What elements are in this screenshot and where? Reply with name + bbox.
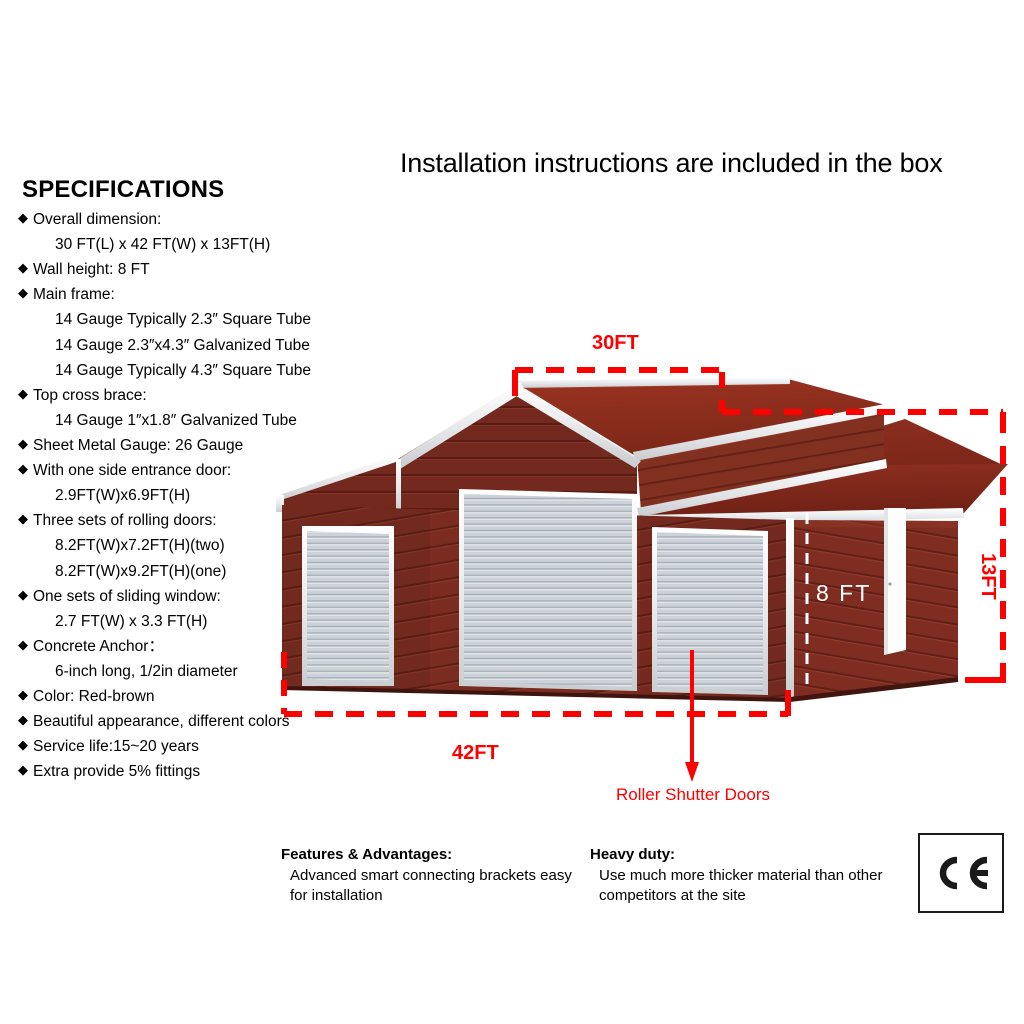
roller-door-callout-arrow <box>685 650 699 782</box>
spec-item-label: Extra provide 5% fittings <box>33 759 348 784</box>
spec-item-label: 14 Gauge 1″x1.8″ Galvanized Tube <box>55 408 348 433</box>
clerestory-wall <box>637 408 884 512</box>
spec-item: ◆Extra provide 5% fittings <box>18 759 348 784</box>
spec-item: ◆One sets of sliding window: <box>18 584 348 609</box>
spec-item-label: Main frame: <box>33 282 348 307</box>
heavy-duty-heading: Heavy duty: <box>590 845 900 866</box>
spec-item: 2.7 FT(W) x 3.3 FT(H) <box>18 609 348 634</box>
diamond-bullet-icon: ◆ <box>18 734 33 755</box>
spec-item: ◆ With one side entrance door: <box>18 458 348 483</box>
spec-item: ◆Service life:15~20 years <box>18 734 348 759</box>
spec-item-label: Wall height: 8 FT <box>33 257 348 282</box>
spec-item-label: 6-inch long, 1/2in diameter <box>55 659 348 684</box>
specifications-heading: SPECIFICATIONS <box>22 176 348 204</box>
spec-item: 8.2FT(W)x9.2FT(H)(one) <box>18 559 348 584</box>
spec-item: ◆Overall dimension: <box>18 207 348 232</box>
spec-item: 14 Gauge Typically 2.3″ Square Tube <box>18 307 348 332</box>
spec-item: 6-inch long, 1/2in diameter <box>18 659 348 684</box>
gable-wall <box>394 382 641 513</box>
spec-item-label: 14 Gauge 2.3″x4.3″ Galvanized Tube <box>55 333 348 358</box>
specifications-list: ◆Overall dimension:30 FT(L) x 42 FT(W) x… <box>18 207 348 785</box>
spec-item: 14 Gauge Typically 4.3″ Square Tube <box>18 358 348 383</box>
spec-item-label: Overall dimension: <box>33 207 348 232</box>
spec-item: ◆Concrete Anchor： <box>18 634 348 659</box>
spec-item: ◆Main frame: <box>18 282 348 307</box>
spec-item-label: Sheet Metal Gauge: 26 Gauge <box>33 433 348 458</box>
spec-item-label: Three sets of rolling doors: <box>33 508 348 533</box>
dimension-label-wall-height: 8 FT <box>816 580 871 607</box>
roof-upper <box>516 379 889 457</box>
spec-item-label: 8.2FT(W)x7.2FT(H)(two) <box>55 533 348 558</box>
front-wall <box>282 505 1024 702</box>
spec-item: ◆Sheet Metal Gauge: 26 Gauge <box>18 433 348 458</box>
spec-item: ◆Top cross brace: <box>18 383 348 408</box>
spec-item-label: Color: Red-brown <box>33 684 348 709</box>
dimension-lines <box>284 370 1006 716</box>
clerestory-eave-trim <box>633 403 891 461</box>
features-advantages-block: Features & Advantages: Advanced smart co… <box>281 845 581 907</box>
diamond-bullet-icon: ◆ <box>18 684 33 705</box>
spec-item: 14 Gauge 1″x1.8″ Galvanized Tube <box>18 408 348 433</box>
diamond-bullet-icon: ◆ <box>18 508 33 529</box>
features-heading: Features & Advantages: <box>281 845 581 866</box>
dimension-label-depth: 30FT <box>592 332 639 355</box>
diamond-bullet-icon: ◆ <box>18 383 33 404</box>
spec-item: 30 FT(L) x 42 FT(W) x 13FT(H) <box>18 232 348 257</box>
page-title: Installation instructions are included i… <box>400 148 1010 179</box>
roller-door-center[interactable] <box>459 489 637 691</box>
diamond-bullet-icon: ◆ <box>18 433 33 454</box>
spec-item-label: One sets of sliding window: <box>33 584 348 609</box>
spec-item: 2.9FT(W)x6.9FT(H) <box>18 483 348 508</box>
roller-door-callout-label: Roller Shutter Doors <box>616 785 770 805</box>
ce-mark <box>918 833 1004 913</box>
spec-item: ◆Three sets of rolling doors: <box>18 508 348 533</box>
spec-item: ◆Wall height: 8 FT <box>18 257 348 282</box>
side-wall-right <box>786 508 958 702</box>
roller-door-right[interactable] <box>652 527 768 695</box>
heavy-duty-line-2: competitors at the site <box>590 886 900 907</box>
product-spec-sheet: Installation instructions are included i… <box>0 0 1024 1024</box>
ce-logo-icon <box>931 853 991 893</box>
spec-item-label: With one side entrance door: <box>33 458 348 483</box>
features-line-2: for installation <box>281 886 581 907</box>
spec-item: ◆Color: Red-brown <box>18 684 348 709</box>
spec-item-label: Top cross brace: <box>33 383 348 408</box>
right-eave-trim <box>643 508 964 525</box>
spec-item-label: 2.7 FT(W) x 3.3 FT(H) <box>55 609 348 634</box>
spec-item-label: 2.9FT(W)x6.9FT(H) <box>55 483 348 508</box>
diamond-bullet-icon: ◆ <box>18 282 33 303</box>
heavy-duty-line-1: Use much more thicker material than othe… <box>590 866 900 887</box>
features-line-1: Advanced smart connecting brackets easy <box>281 866 581 887</box>
spec-item: ◆Beautiful appearance, different colors <box>18 709 348 734</box>
spec-item-label: Service life:15~20 years <box>33 734 348 759</box>
side-entrance-door[interactable] <box>884 508 906 655</box>
specifications-panel: SPECIFICATIONS ◆Overall dimension:30 FT(… <box>18 176 348 785</box>
spec-item: 14 Gauge 2.3″x4.3″ Galvanized Tube <box>18 333 348 358</box>
roof-lower-right <box>645 419 1008 524</box>
spec-item-label: Concrete Anchor： <box>33 634 348 659</box>
diamond-bullet-icon: ◆ <box>18 458 33 479</box>
diamond-bullet-icon: ◆ <box>18 709 33 730</box>
diamond-bullet-icon: ◆ <box>18 759 33 780</box>
spec-item-label: 14 Gauge Typically 2.3″ Square Tube <box>55 307 348 332</box>
spec-item-label: 8.2FT(W)x9.2FT(H)(one) <box>55 559 348 584</box>
diamond-bullet-icon: ◆ <box>18 257 33 278</box>
spec-item: 8.2FT(W)x7.2FT(H)(two) <box>18 533 348 558</box>
spec-item-label: 30 FT(L) x 42 FT(W) x 13FT(H) <box>55 232 348 257</box>
spec-item-label: Beautiful appearance, different colors <box>33 709 348 734</box>
clerestory-base-trim <box>637 459 887 517</box>
diamond-bullet-icon: ◆ <box>18 584 33 605</box>
heavy-duty-block: Heavy duty: Use much more thicker materi… <box>590 845 900 907</box>
spec-item-label: 14 Gauge Typically 4.3″ Square Tube <box>55 358 348 383</box>
roof-ridge-trim <box>514 377 790 388</box>
diamond-bullet-icon: ◆ <box>18 207 33 228</box>
diamond-bullet-icon: ◆ <box>18 634 33 655</box>
dimension-label-height: 13FT <box>976 553 999 600</box>
dimension-label-width: 42FT <box>452 742 499 765</box>
